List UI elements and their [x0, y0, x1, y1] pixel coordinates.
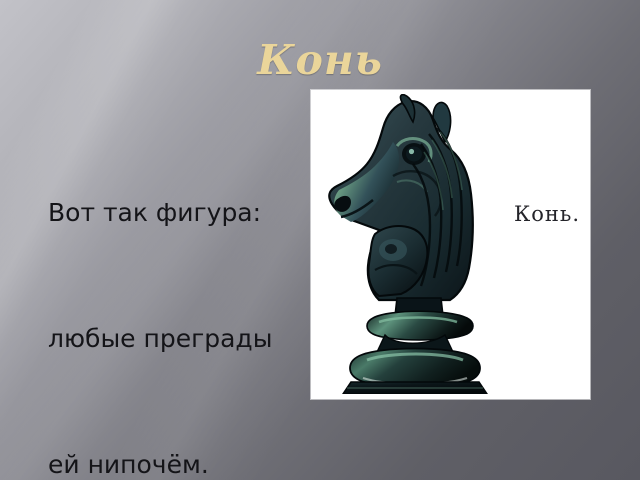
- slide-canvas: Конь Вот так фигура: любые преграды ей н…: [0, 0, 640, 480]
- knight-jaw-hollow: [385, 244, 397, 254]
- knight-eye-glint: [409, 149, 414, 154]
- body-line-3: ей нипочём.: [48, 444, 348, 480]
- body-line-1: Вот так фигура:: [48, 192, 348, 234]
- knight-image-frame: Конь.: [311, 90, 590, 399]
- chess-knight-icon: [317, 94, 507, 394]
- picture-caption: Конь.: [514, 202, 580, 226]
- page-title: Конь: [0, 36, 640, 84]
- body-text-block: Вот так фигура: любые преграды ей нипочё…: [48, 108, 348, 480]
- knight-eye: [406, 147, 422, 162]
- knight-collar-ring: [367, 311, 473, 340]
- body-line-2: любые преграды: [48, 318, 348, 360]
